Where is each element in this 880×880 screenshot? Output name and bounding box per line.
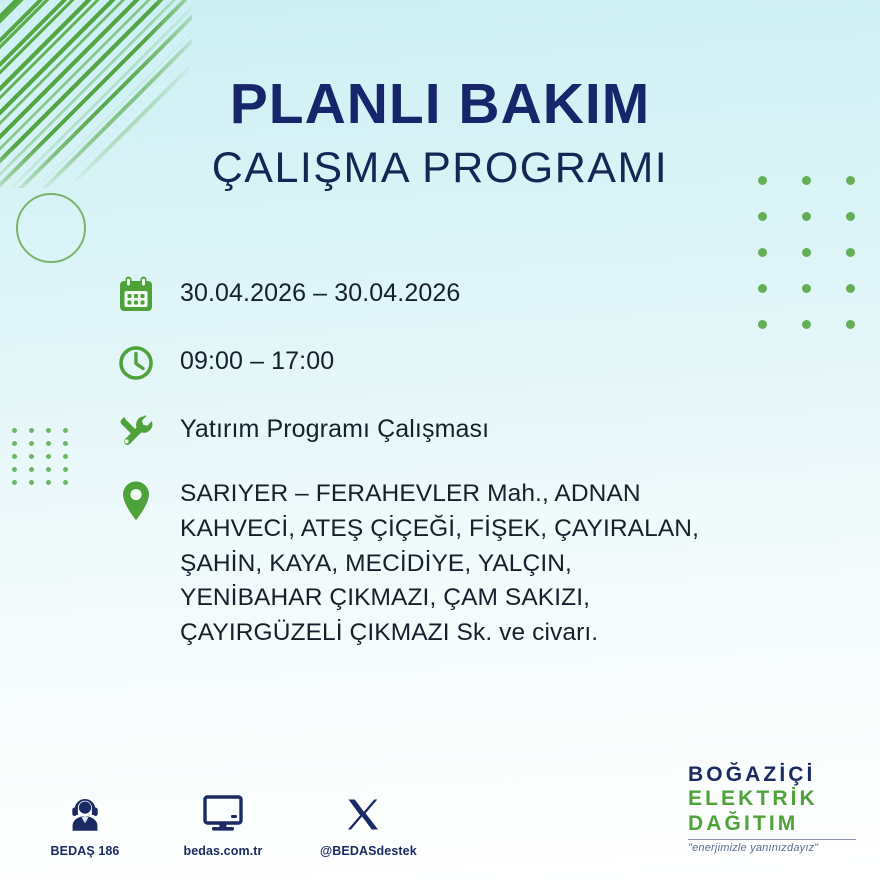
contact-phone-label: BEDAŞ 186 <box>44 844 126 858</box>
maintenance-details: 30.04.2026 – 30.04.2026 09:00 – 17:00 <box>113 272 753 673</box>
contact-website[interactable]: bedas.com.tr <box>182 790 264 858</box>
maintenance-date-range: 30.04.2026 – 30.04.2026 <box>159 272 460 306</box>
clock-icon <box>113 340 159 386</box>
location-address: SARIYER – FERAHEVLER Mah., ADNAN KAHVECİ… <box>159 476 699 651</box>
contact-phone[interactable]: BEDAŞ 186 <box>44 790 126 858</box>
bedas-logo: BOĞAZİÇİ ELEKTRİK DAĞITIM "enerjimizle y… <box>688 763 856 854</box>
work-type-label: Yatırım Programı Çalışması <box>159 408 489 442</box>
logo-divider <box>688 839 856 840</box>
detail-row-time: 09:00 – 17:00 <box>113 340 753 386</box>
logo-line-bogazici: BOĞAZİÇİ <box>688 763 856 787</box>
calendar-icon <box>113 272 159 318</box>
address-line: SARIYER – FERAHEVLER Mah., ADNAN <box>180 477 699 512</box>
address-line: ÇAYIRGÜZELİ ÇIKMAZI Sk. ve civarı. <box>180 616 699 651</box>
location-pin-icon <box>113 478 159 524</box>
footer-contacts: BEDAŞ 186 bedas.com.tr @BEDASdestek <box>44 790 402 858</box>
contact-social[interactable]: @BEDASdestek <box>320 790 402 858</box>
detail-row-location: SARIYER – FERAHEVLER Mah., ADNAN KAHVECİ… <box>113 476 753 651</box>
maintenance-time-range: 09:00 – 17:00 <box>159 340 334 374</box>
logo-tagline: "enerjimizle yanınızdayız" <box>688 842 856 854</box>
monitor-icon <box>182 790 264 834</box>
dot-grid-decoration-left <box>12 428 72 493</box>
contact-website-label: bedas.com.tr <box>182 844 264 858</box>
address-line: KAHVECİ, ATEŞ ÇİÇEĞİ, FİŞEK, ÇAYIRALAN, <box>180 512 699 547</box>
tools-icon <box>113 408 159 454</box>
call-center-agent-icon <box>44 790 126 834</box>
logo-line-dagitim: DAĞITIM <box>688 812 856 836</box>
x-twitter-icon <box>320 790 402 834</box>
detail-row-date: 30.04.2026 – 30.04.2026 <box>113 272 753 318</box>
detail-row-work-type: Yatırım Programı Çalışması <box>113 408 753 454</box>
circle-outline-decoration <box>16 193 86 263</box>
diagonal-stripes-decoration <box>0 0 192 188</box>
logo-line-elektrik: ELEKTRİK <box>688 787 856 811</box>
address-line: YENİBAHAR ÇIKMAZI, ÇAM SAKIZI, <box>180 581 699 616</box>
dot-grid-decoration-right <box>758 176 856 356</box>
address-line: ŞAHİN, KAYA, MECİDİYE, YALÇIN, <box>180 547 699 582</box>
contact-social-label: @BEDASdestek <box>320 844 402 858</box>
planned-maintenance-poster: PLANLI BAKIM ÇALIŞMA PROGRAMI <box>0 0 880 880</box>
